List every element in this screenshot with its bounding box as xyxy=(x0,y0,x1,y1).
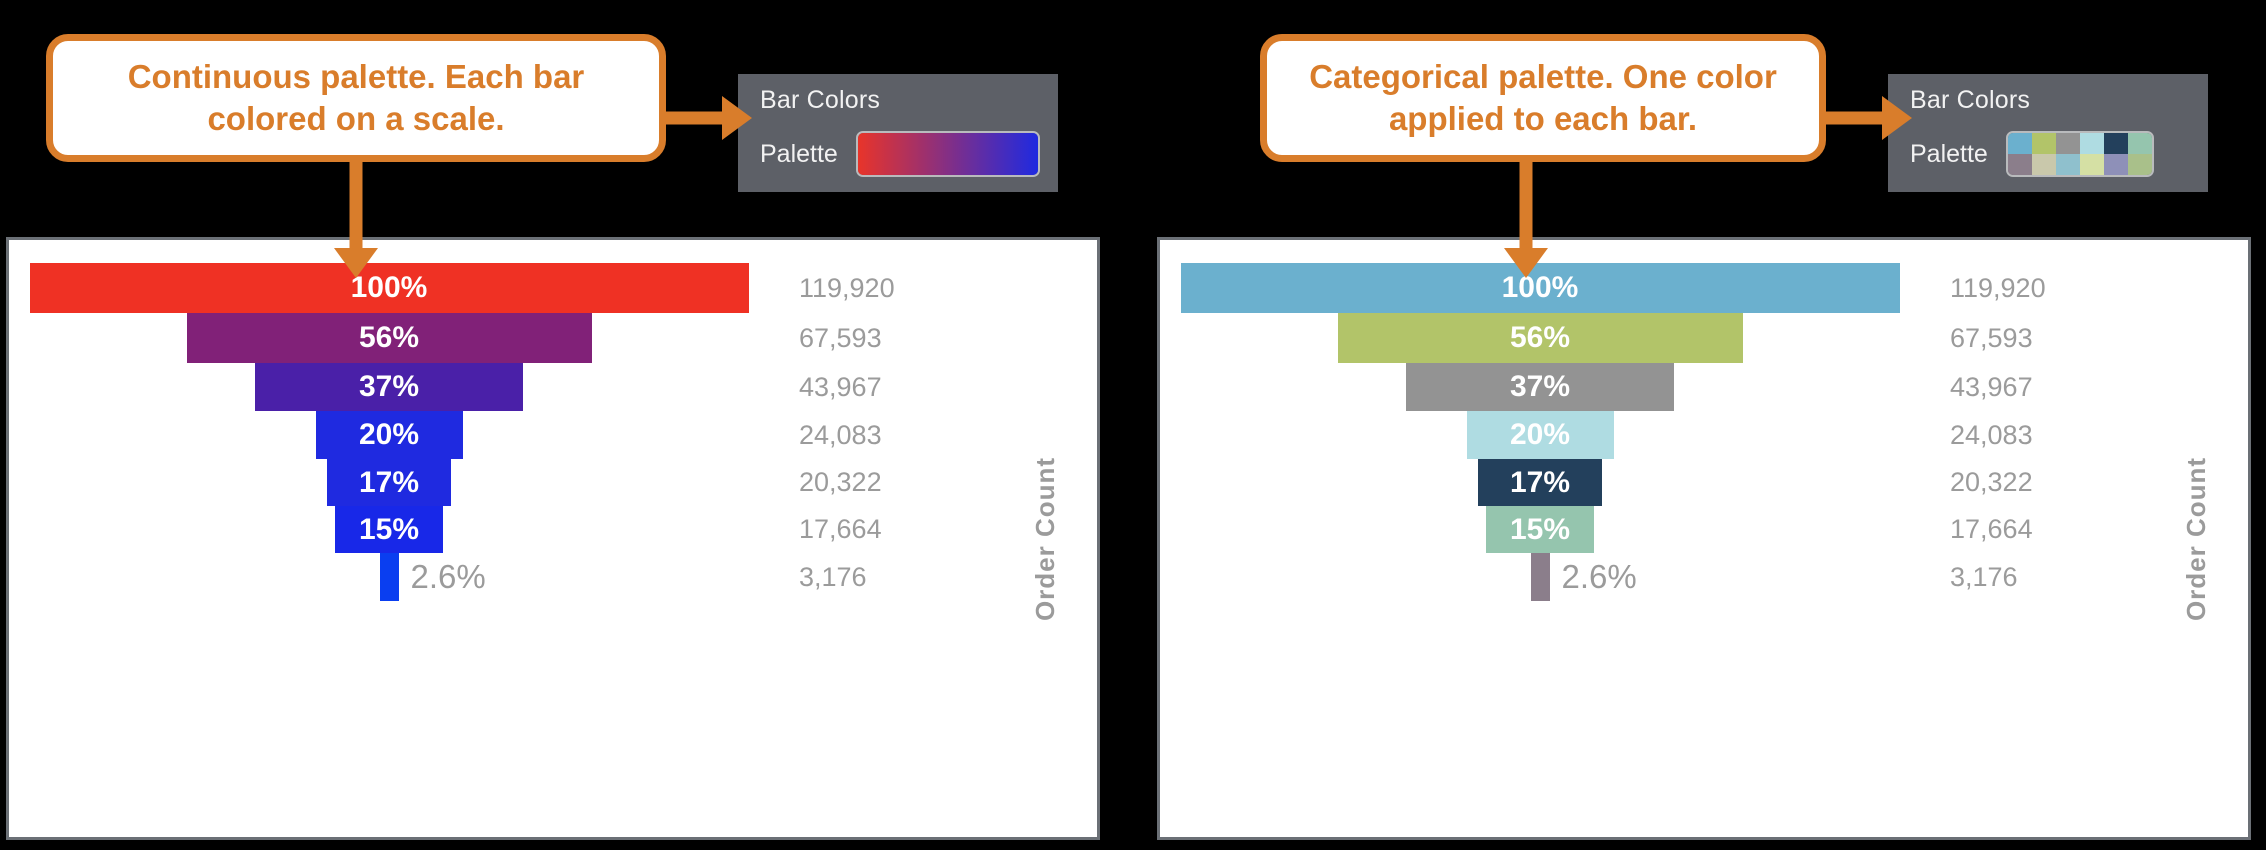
funnel-chart-categorical: 100%119,92056%67,59337%43,96720%24,08317… xyxy=(1157,237,2251,840)
arrow-shaft xyxy=(1820,112,1886,125)
bar-count-label: 17,664 xyxy=(1950,514,2033,545)
bar-area: 2.6% xyxy=(1160,553,1920,601)
palette-swatch-categorical[interactable] xyxy=(2006,131,2154,177)
bar-count-label: 20,322 xyxy=(1950,467,2033,498)
swatch-9 xyxy=(2080,154,2104,175)
bar-area: 37% xyxy=(9,363,769,411)
swatch-7 xyxy=(2032,154,2056,175)
axis-title-order-count-right: Order Count xyxy=(2181,456,2212,620)
arrow-head xyxy=(1504,248,1548,278)
bar-count-label: 20,322 xyxy=(799,467,882,498)
bar-count-label: 3,176 xyxy=(1950,562,2018,593)
swatch-2 xyxy=(2056,133,2080,154)
swatch-8 xyxy=(2056,154,2080,175)
bar-percent-label: 56% xyxy=(1510,321,1570,355)
bar-percent-label: 17% xyxy=(359,466,419,500)
bar-area: 15% xyxy=(9,506,769,553)
arrow-head xyxy=(334,248,378,278)
funnel-row: 56%67,593 xyxy=(1160,313,2248,363)
slide-canvas: Continuous palette. Each bar colored on … xyxy=(0,0,2266,850)
palette-row: Palette xyxy=(760,131,1042,177)
bar-percent-label: 37% xyxy=(359,370,419,404)
bar-count-label: 3,176 xyxy=(799,562,867,593)
funnel-bar[interactable]: 56% xyxy=(187,313,592,363)
funnel-bar[interactable]: 56% xyxy=(1338,313,1743,363)
funnel-row: 100%119,920 xyxy=(9,263,1097,313)
bar-percent-label: 15% xyxy=(359,513,419,547)
bar-area: 20% xyxy=(1160,411,1920,459)
funnel-row: 20%24,083 xyxy=(1160,411,2248,459)
swatch-0 xyxy=(2008,133,2032,154)
bar-percent-label: 37% xyxy=(1510,370,1570,404)
funnel-body: 100%119,92056%67,59337%43,96720%24,08317… xyxy=(9,240,1097,837)
swatch-11 xyxy=(2128,154,2152,175)
funnel-bar[interactable]: 37% xyxy=(255,363,523,411)
bar-percent-label: 56% xyxy=(359,321,419,355)
funnel-row: 15%17,664 xyxy=(1160,506,2248,553)
funnel-bar[interactable]: 100% xyxy=(30,263,749,313)
bar-area: 56% xyxy=(9,313,769,363)
funnel-body: 100%119,92056%67,59337%43,96720%24,08317… xyxy=(1160,240,2248,837)
swatch-5 xyxy=(2128,133,2152,154)
funnel-row: 20%24,083 xyxy=(9,411,1097,459)
panel-title: Bar Colors xyxy=(760,86,1042,115)
funnel-row: 2.6%3,176 xyxy=(1160,553,2248,601)
swatch-3 xyxy=(2080,133,2104,154)
palette-label: Palette xyxy=(1910,140,1988,169)
bar-area: 15% xyxy=(1160,506,1920,553)
funnel-row: 100%119,920 xyxy=(1160,263,2248,313)
arrow-down-continuous xyxy=(330,160,382,278)
bar-percent-label: 17% xyxy=(1510,466,1570,500)
axis-title-order-count-left: Order Count xyxy=(1030,456,1061,620)
panel-title: Bar Colors xyxy=(1910,86,2192,115)
bar-count-label: 119,920 xyxy=(799,273,895,304)
arrow-head xyxy=(722,96,752,140)
bar-area: 2.6% xyxy=(9,553,769,601)
funnel-bar[interactable]: 2.6% xyxy=(380,553,399,601)
callout-continuous-text: Continuous palette. Each bar colored on … xyxy=(79,56,633,140)
funnel-bar[interactable]: 20% xyxy=(1467,411,1614,459)
bar-percent-label: 2.6% xyxy=(1562,558,1637,596)
arrow-down-categorical xyxy=(1500,160,1552,278)
palette-swatch-continuous[interactable] xyxy=(856,131,1040,177)
callout-categorical: Categorical palette. One color applied t… xyxy=(1260,34,1826,162)
palette-row: Palette xyxy=(1910,131,2192,177)
bar-count-label: 43,967 xyxy=(799,372,882,403)
bar-colors-panel-categorical: Bar Colors Palette xyxy=(1888,74,2208,192)
swatch-6 xyxy=(2008,154,2032,175)
bar-area: 20% xyxy=(9,411,769,459)
funnel-row: 56%67,593 xyxy=(9,313,1097,363)
arrow-shaft xyxy=(660,112,726,125)
funnel-bar[interactable]: 37% xyxy=(1406,363,1674,411)
bar-percent-label: 20% xyxy=(1510,418,1570,452)
funnel-row: 17%20,322 xyxy=(9,459,1097,506)
bar-percent-label: 2.6% xyxy=(411,558,486,596)
funnel-bar[interactable]: 2.6% xyxy=(1531,553,1550,601)
swatch-1 xyxy=(2032,133,2056,154)
swatch-4 xyxy=(2104,133,2128,154)
bar-area: 37% xyxy=(1160,363,1920,411)
callout-categorical-text: Categorical palette. One color applied t… xyxy=(1293,56,1793,140)
arrow-shaft xyxy=(1520,160,1533,252)
bar-area: 100% xyxy=(9,263,769,313)
bar-count-label: 24,083 xyxy=(1950,420,2033,451)
bar-count-label: 67,593 xyxy=(1950,323,2033,354)
callout-continuous: Continuous palette. Each bar colored on … xyxy=(46,34,666,162)
funnel-bar[interactable]: 20% xyxy=(316,411,463,459)
bar-count-label: 24,083 xyxy=(799,420,882,451)
bar-colors-panel-continuous: Bar Colors Palette xyxy=(738,74,1058,192)
funnel-bar[interactable]: 15% xyxy=(335,506,443,553)
funnel-row: 37%43,967 xyxy=(9,363,1097,411)
bar-area: 17% xyxy=(1160,459,1920,506)
gradient-fill xyxy=(858,133,1038,175)
funnel-bar[interactable]: 17% xyxy=(327,459,451,506)
funnel-row: 17%20,322 xyxy=(1160,459,2248,506)
arrow-right-continuous xyxy=(660,96,752,140)
bar-count-label: 67,593 xyxy=(799,323,882,354)
palette-label: Palette xyxy=(760,140,838,169)
swatch-grid xyxy=(2008,133,2152,175)
bar-percent-label: 15% xyxy=(1510,513,1570,547)
bar-count-label: 43,967 xyxy=(1950,372,2033,403)
arrow-head xyxy=(1882,96,1912,140)
swatch-10 xyxy=(2104,154,2128,175)
funnel-row: 2.6%3,176 xyxy=(9,553,1097,601)
funnel-row: 37%43,967 xyxy=(1160,363,2248,411)
arrow-shaft xyxy=(350,160,363,252)
funnel-bar[interactable]: 15% xyxy=(1486,506,1594,553)
bar-count-label: 17,664 xyxy=(799,514,882,545)
bar-area: 17% xyxy=(9,459,769,506)
funnel-row: 15%17,664 xyxy=(9,506,1097,553)
funnel-chart-continuous: 100%119,92056%67,59337%43,96720%24,08317… xyxy=(6,237,1100,840)
arrow-right-categorical xyxy=(1820,96,1912,140)
funnel-bar[interactable]: 17% xyxy=(1478,459,1602,506)
bar-area: 56% xyxy=(1160,313,1920,363)
bar-count-label: 119,920 xyxy=(1950,273,2046,304)
bar-percent-label: 20% xyxy=(359,418,419,452)
